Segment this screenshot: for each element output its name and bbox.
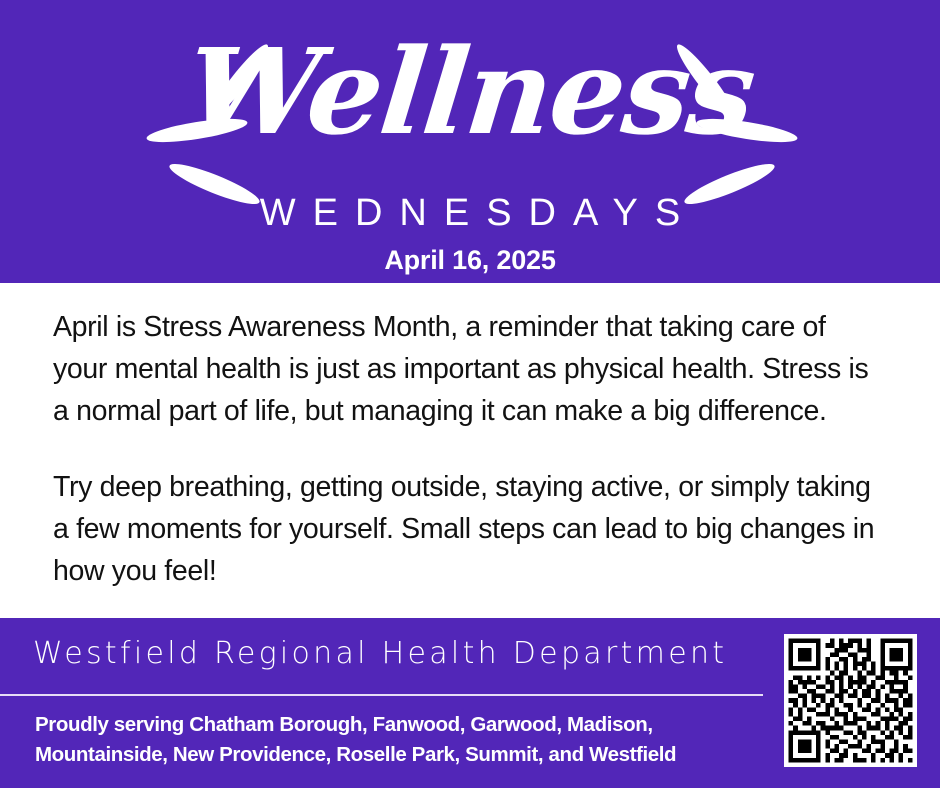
footer-banner: Westfield Regional Health Department Pro… [0,618,940,788]
qr-code[interactable] [784,634,917,767]
issue-date: April 16, 2025 [0,247,940,274]
department-name: Westfield Regional Health Department [33,639,727,669]
header-banner: Wellness WEDNESDAYS April 16, 2025 [0,0,940,283]
body-paragraph-1: April is Stress Awareness Month, a remin… [53,306,885,432]
serving-towns: Proudly serving Chatham Borough, Fanwood… [35,710,753,770]
qr-code-icon [784,634,917,767]
wednesdays-subtitle: WEDNESDAYS [0,194,940,232]
body-paragraph-2: Try deep breathing, getting outside, sta… [53,466,885,592]
body-content: April is Stress Awareness Month, a remin… [0,283,940,618]
footer-divider [0,694,763,696]
wellness-wordmark: Wellness [0,28,940,155]
wellness-wednesdays-flyer: Wellness WEDNESDAYS April 16, 2025 April… [0,0,940,788]
